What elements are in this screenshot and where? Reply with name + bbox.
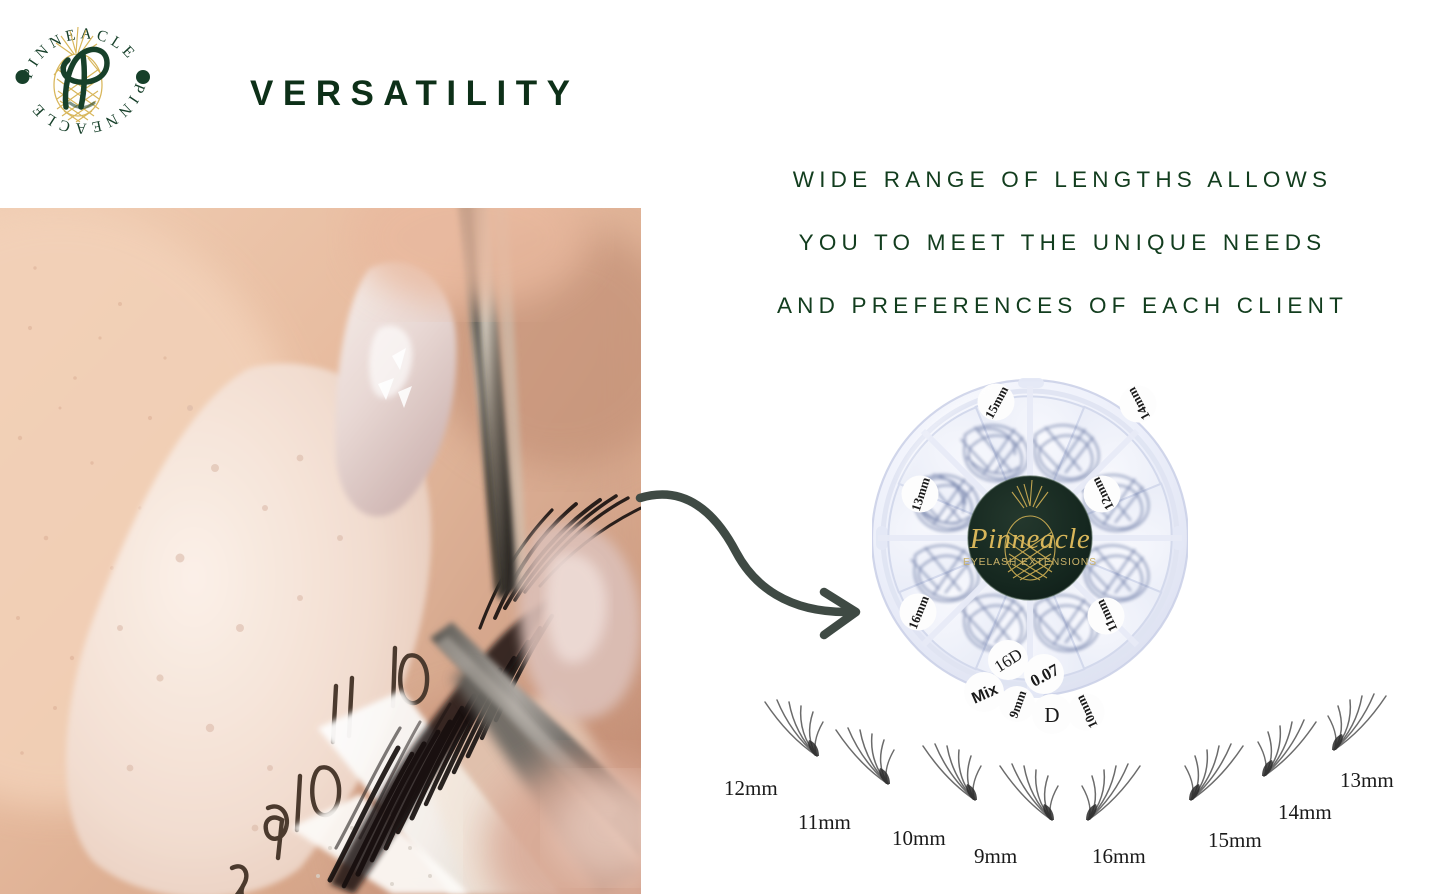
logo-dot-left <box>16 70 30 84</box>
logo-dot-right <box>136 70 150 84</box>
subheading-line-1: WIDE RANGE OF LENGTHS ALLOWS <box>690 148 1435 211</box>
tray-logo-script: Pinneacle <box>969 523 1090 555</box>
tray-label-16D: 16D <box>988 640 1028 680</box>
tray-label-D: D <box>1032 694 1072 734</box>
lash-fan-12mm <box>747 694 833 766</box>
tray-label-9mm: 9mm <box>999 686 1035 722</box>
subheading-line-3: AND PREFERENCES OF EACH CLIENT <box>690 274 1435 337</box>
lash-length-label-10mm: 10mm <box>892 826 946 851</box>
svg-text:D: D <box>1044 703 1059 727</box>
lash-fan-15mm <box>1175 738 1261 810</box>
tray-logo-subtitle: EYELASH EXTENSIONS <box>963 557 1097 568</box>
lash-length-label-9mm: 9mm <box>974 844 1017 869</box>
lash-fan-14mm <box>1248 714 1334 786</box>
tray-label-10mm: 10mm <box>1068 693 1105 731</box>
eyelash-extension-application-photo <box>0 208 641 894</box>
lash-fan-16mm <box>1072 758 1158 830</box>
subheading-line-2: YOU TO MEET THE UNIQUE NEEDS <box>690 211 1435 274</box>
tray-label-mix: Mix <box>964 672 1004 712</box>
pinneacle-circular-badge-logo: PINNEACLE PINNEACLE <box>8 3 158 153</box>
page-title: VERSATILITY <box>250 74 579 114</box>
curved-arrow-icon <box>628 470 888 640</box>
lash-length-label-16mm: 16mm <box>1092 844 1146 869</box>
lash-length-label-12mm: 12mm <box>724 776 778 801</box>
lash-fan-9mm <box>982 758 1068 830</box>
lash-length-label-15mm: 15mm <box>1208 828 1262 853</box>
slide-canvas: PINNEACLE PINNEACLE <box>0 0 1445 894</box>
subheading-block: WIDE RANGE OF LENGTHS ALLOWS YOU TO MEET… <box>690 148 1435 337</box>
lash-length-label-11mm: 11mm <box>798 810 851 835</box>
pinneacle-logo: PINNEACLE PINNEACLE <box>8 3 158 153</box>
lash-length-label-14mm: 14mm <box>1278 800 1332 825</box>
tray-label-007: 0.07 <box>1024 654 1064 694</box>
tray-label-14mm: 14mm <box>1120 385 1157 423</box>
logo-ring-text-bottom: PINNEACLE <box>26 81 148 137</box>
lash-fan-13mm <box>1318 688 1404 760</box>
lash-length-label-13mm: 13mm <box>1340 768 1394 793</box>
lash-fan-10mm <box>905 738 991 810</box>
lash-extension-tray: Pinneacle EYELASH EXTENSIONS 15mm 14mm 1… <box>872 362 1188 738</box>
